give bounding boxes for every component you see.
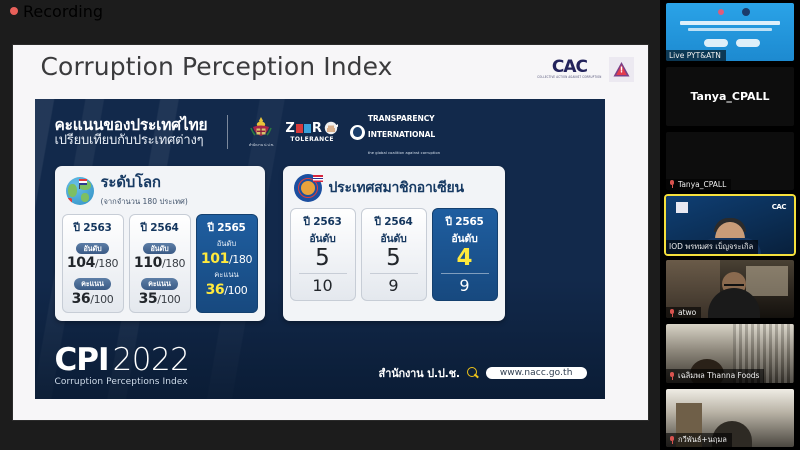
world-rank-value-2564: 110/180 — [132, 255, 188, 272]
cac-tagline: COLLECTIVE ACTION AGAINST CORRUPTION — [537, 77, 601, 80]
slide-header: Corruption Perception Index CAC COLLECTI… — [13, 45, 648, 97]
asean-year-label-2563: ปี 2563 — [293, 213, 353, 230]
world-score-label-2565: คะแนน — [199, 269, 255, 281]
asean-card-title: ประเทศสมาชิกอาเซียน — [329, 177, 464, 199]
world-rank-value-2565: 101/180 — [199, 251, 255, 268]
participant-label-2: IOD พรทมศร เบ็ญจระเกิล — [669, 241, 753, 253]
fist-icon — [323, 121, 339, 135]
nacc-emblem-logo: สำนักงาน ป.ป.ช. — [248, 116, 274, 148]
slide-header-logos: CAC COLLECTIVE ACTION AGAINST CORRUPTION — [537, 53, 633, 82]
world-score-value-2563: 36/100 — [65, 291, 121, 308]
world-card-title-block: ระดับโลก (จากจำนวน 180 ประเทศ) — [101, 174, 188, 208]
world-rank-total-2565: /180 — [229, 253, 252, 266]
asean-rank-value-2564: 5 — [364, 247, 424, 270]
world-card-title: ระดับโลก — [101, 173, 161, 191]
world-score-total-2565: /100 — [224, 284, 247, 297]
asean-year-label-2564: ปี 2564 — [364, 213, 424, 230]
participant-tile-tanya-cpall[interactable]: Tanya_CPALL — [660, 64, 800, 128]
participant-name-badge-2: IOD พรทมศร เบ็ญจระเกิล — [666, 240, 758, 254]
world-rank-total-2564: /180 — [162, 257, 185, 270]
world-rank-num-2564: 110 — [134, 255, 162, 271]
website-url[interactable]: www.nacc.go.th — [486, 367, 587, 379]
world-rank-num-2563: 104 — [67, 255, 95, 271]
cac-logo: CAC COLLECTIVE ACTION AGAINST CORRUPTION — [537, 59, 601, 80]
nacc-garuda-icon — [248, 116, 274, 142]
world-year-row: ปี 2563 อันดับ 104/180 คะแนน 36/100 ปี 2… — [62, 214, 258, 314]
world-score-total-2563: /100 — [90, 293, 113, 306]
participant-tile-live-pyt-atn[interactable]: Live PYT&ATN — [660, 0, 800, 64]
zero-tolerance-z: Z — [285, 122, 294, 135]
world-year-box-2565: ปี 2565 อันดับ 101/180 คะแนน 36/100 — [196, 214, 258, 314]
participant-tile-tanya-cpall-label[interactable]: Tanya_CPALL — [660, 129, 800, 193]
zero-tolerance-bar-2 — [304, 124, 311, 133]
thai-flag-icon — [313, 175, 323, 182]
zero-tolerance-word: TOLERANCE — [290, 137, 334, 143]
mic-muted-icon-5 — [669, 436, 675, 444]
zero-tolerance-bar-1 — [296, 124, 303, 133]
zero-tolerance-mark: Z R — [285, 121, 338, 135]
asean-year-row: ปี 2563 อันดับ 5 10 ปี 2564 อันดับ 5 — [290, 208, 498, 301]
transparency-text: TRANSPARENCY INTERNATIONAL the global co… — [368, 108, 440, 157]
asean-year-box-2563: ปี 2563 อันดับ 5 10 — [290, 208, 356, 301]
world-rank-label-2565: อันดับ — [199, 238, 255, 250]
participant-rail[interactable]: Live PYT&ATN Tanya_CPALL Tanya_CPALL — [660, 0, 800, 450]
participant-name-badge-5: กวีพันธ์+นฤมล — [666, 433, 732, 447]
panel-header-line2: เปรียบเทียบกับประเทศต่างๆ — [55, 134, 208, 149]
participant-label-3: atwo — [678, 308, 696, 317]
asean-divider-2563 — [299, 273, 347, 274]
world-rank-total-2563: /180 — [95, 257, 118, 270]
transparency-international-logo: TRANSPARENCY INTERNATIONAL the global co… — [350, 108, 440, 157]
zero-tolerance-r: R — [312, 122, 322, 135]
asean-logo-icon — [294, 174, 322, 202]
page-title: Corruption Perception Index — [41, 53, 393, 82]
cpi-title-row: CPI 2022 — [55, 345, 190, 376]
participant-label-5: กวีพันธ์+นฤมล — [678, 434, 727, 446]
participant-center-name: Tanya_CPALL — [666, 67, 794, 125]
asean-rank-value-2565: 4 — [435, 247, 495, 270]
world-year-box-2563: ปี 2563 อันดับ 104/180 คะแนน 36/100 — [62, 214, 124, 314]
globe-badge-icon — [66, 198, 72, 205]
presentation-slide: Corruption Perception Index CAC COLLECTI… — [13, 45, 648, 420]
panel-header: คะแนนของประเทศไทย เปรียบเทียบกับประเทศต่… — [35, 99, 605, 157]
participant-name-badge-1: Tanya_CPALL — [666, 179, 731, 190]
asean-divider-2565 — [441, 273, 489, 274]
asean-rank-value-2563: 5 — [293, 247, 353, 270]
nacc-emblem-caption: สำนักงาน ป.ป.ช. — [249, 143, 274, 148]
globe-icon — [66, 177, 94, 205]
asean-rank-card: ประเทศสมาชิกอาเซียน ปี 2563 อันดับ 5 10 — [283, 166, 505, 322]
world-score-pill-2564: คะแนน — [141, 278, 178, 289]
panel-header-line1: คะแนนของประเทศไทย — [55, 117, 208, 134]
cpi-year: 2022 — [113, 345, 190, 376]
participant-name-badge-4: เฉลิมพล Thanna Foods — [666, 369, 764, 383]
participant-label-1: Tanya_CPALL — [678, 180, 726, 189]
iod-triangle-icon — [612, 60, 631, 79]
infographic-panel: คะแนนของประเทศไทย เปรียบเทียบกับประเทศต่… — [35, 99, 605, 399]
world-score-total-2564: /100 — [157, 293, 180, 306]
agency-website-row: สำนักงาน ป.ป.ช. www.nacc.go.th — [379, 364, 587, 387]
world-score-value-2564: 35/100 — [132, 291, 188, 308]
zero-tolerance-logo: Z R TOLERA — [285, 121, 338, 143]
asean-total-value-2563: 10 — [293, 277, 353, 295]
participant-name-badge: Live PYT&ATN — [666, 50, 726, 61]
participant-name-badge-3: atwo — [666, 307, 701, 318]
participant-tile-last[interactable]: กวีพันธ์+นฤมล — [660, 386, 800, 450]
stat-cards: ระดับโลก (จากจำนวน 180 ประเทศ) ปี 2563 อ… — [35, 157, 605, 322]
world-card-header: ระดับโลก (จากจำนวน 180 ประเทศ) — [62, 172, 258, 214]
iod-logo — [609, 57, 634, 82]
world-year-label-2565: ปี 2565 — [199, 219, 255, 236]
transparency-line1: TRANSPARENCY — [368, 114, 435, 123]
search-icon — [467, 367, 479, 379]
mic-muted-icon-4 — [669, 372, 675, 380]
mic-muted-icon — [669, 180, 675, 188]
agency-name: สำนักงาน ป.ป.ช. — [379, 364, 460, 382]
world-year-label-2564: ปี 2564 — [132, 219, 188, 236]
asean-year-box-2564: ปี 2564 อันดับ 5 9 — [361, 208, 427, 301]
world-year-box-2564: ปี 2564 อันดับ 110/180 คะแนน 35/100 — [129, 214, 191, 314]
world-rank-value-2563: 104/180 — [65, 255, 121, 272]
world-score-num-2564: 35 — [139, 291, 158, 307]
world-rank-pill-2564: อันดับ — [143, 243, 175, 254]
participant-label-4: เฉลิมพล Thanna Foods — [678, 370, 759, 382]
transparency-mark-icon — [350, 125, 365, 140]
world-card-subtitle: (จากจำนวน 180 ประเทศ) — [101, 197, 188, 206]
cpi-full-name: Corruption Perceptions Index — [55, 378, 190, 387]
panel-header-text: คะแนนของประเทศไทย เปรียบเทียบกับประเทศต่… — [55, 117, 208, 149]
cpi-branding: CPI 2022 Corruption Perceptions Index — [55, 345, 190, 387]
transparency-tagline: the global coalition against corruption — [368, 151, 440, 155]
partner-logos: สำนักงาน ป.ป.ช. Z R — [248, 108, 440, 157]
world-score-num-2565: 36 — [206, 282, 225, 298]
panel-footer: CPI 2022 Corruption Perceptions Index สำ… — [35, 345, 605, 399]
cpi-abbreviation: CPI — [55, 345, 109, 376]
world-score-pill-2563: คะแนน — [74, 278, 111, 289]
asean-total-value-2564: 9 — [364, 277, 424, 295]
recording-indicator: Recording — [0, 0, 660, 22]
transparency-line2: INTERNATIONAL — [368, 130, 435, 139]
header-divider — [227, 115, 228, 149]
asean-year-box-2565: ปี 2565 อันดับ 4 9 — [432, 208, 498, 301]
cac-wordmark: CAC — [552, 59, 587, 76]
participant-tile-iod[interactable]: CAC IOD พรทมศร เบ็ญจระเกิล — [660, 193, 800, 257]
zoom-meeting-window: Recording Corruption Perception Index CA… — [0, 0, 800, 450]
mic-muted-icon-3 — [669, 309, 675, 317]
screen-share-stage: Corruption Perception Index CAC COLLECTI… — [0, 22, 660, 450]
asean-total-value-2565: 9 — [435, 277, 495, 295]
world-score-num-2563: 36 — [72, 291, 91, 307]
world-year-label-2563: ปี 2563 — [65, 219, 121, 236]
world-rank-card: ระดับโลก (จากจำนวน 180 ประเทศ) ปี 2563 อ… — [55, 166, 265, 322]
asean-divider-2564 — [370, 273, 418, 274]
participant-tile-atwo[interactable]: atwo — [660, 257, 800, 321]
participant-tile-thanna-foods[interactable]: เฉลิมพล Thanna Foods — [660, 321, 800, 385]
world-score-value-2565: 36/100 — [199, 282, 255, 299]
world-rank-num-2565: 101 — [201, 251, 229, 267]
world-rank-pill-2563: อันดับ — [76, 243, 108, 254]
participant-label-0: Live PYT&ATN — [669, 51, 721, 60]
recording-label: Recording — [23, 2, 103, 21]
asean-card-header: ประเทศสมาชิกอาเซียน — [290, 172, 498, 208]
asean-year-label-2565: ปี 2565 — [435, 213, 495, 230]
recording-dot-icon — [10, 7, 18, 15]
